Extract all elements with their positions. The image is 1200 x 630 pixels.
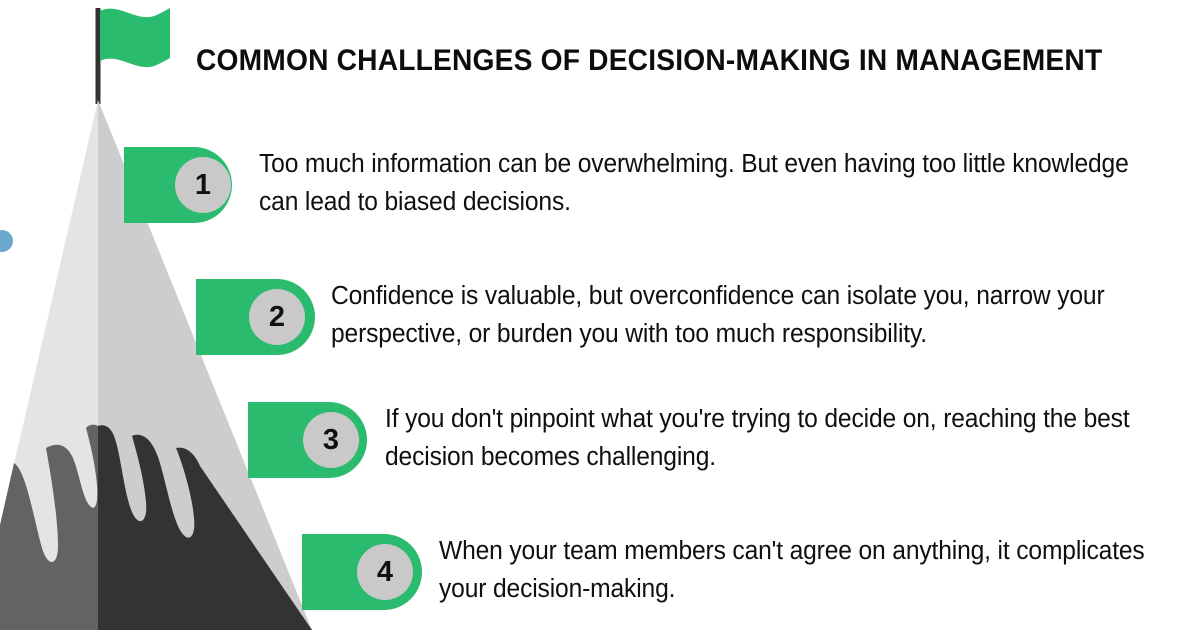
number-badge-3: 3: [303, 412, 359, 468]
mountain-left-rock: [0, 250, 98, 630]
blue-accent-dot: [0, 230, 13, 252]
mountain-left-snow-face: [0, 100, 98, 630]
number-badge-1: 1: [175, 157, 231, 213]
number-badge-2: 2: [249, 289, 305, 345]
challenge-text-3: If you don't pinpoint what you're trying…: [385, 400, 1171, 476]
challenge-text-1: Too much information can be overwhelming…: [259, 145, 1166, 221]
flag-pole: [96, 8, 101, 104]
challenge-text-2: Confidence is valuable, but overconfiden…: [331, 277, 1171, 353]
flag-banner: [100, 8, 170, 67]
challenge-text-4: When your team members can't agree on an…: [439, 532, 1172, 608]
infographic-canvas: COMMON CHALLENGES OF DECISION-MAKING IN …: [0, 0, 1200, 630]
number-badge-4: 4: [357, 544, 413, 600]
page-title: COMMON CHALLENGES OF DECISION-MAKING IN …: [196, 38, 1141, 84]
